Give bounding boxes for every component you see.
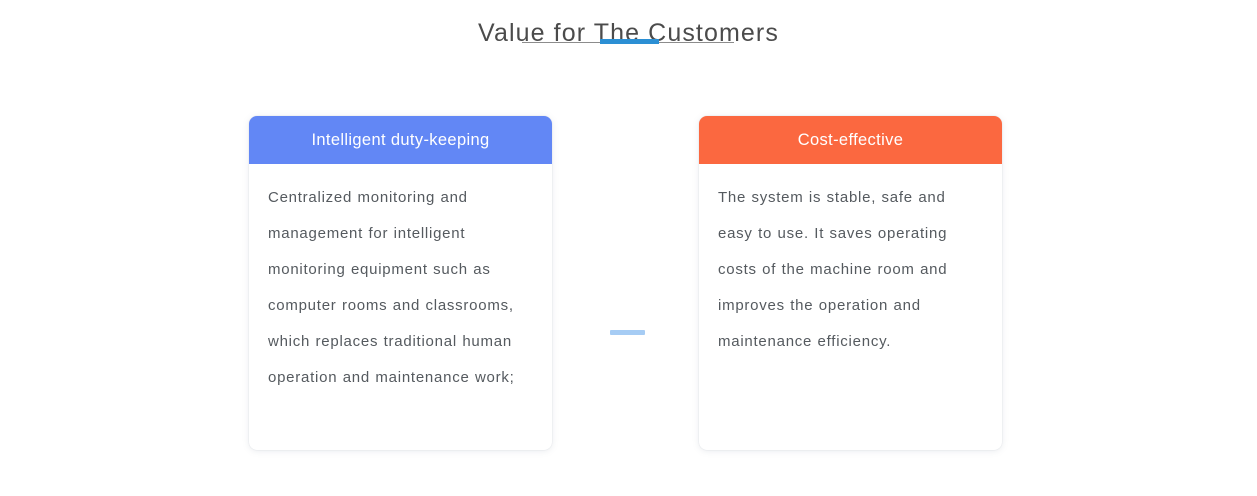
value-card-header: Intelligent duty-keeping: [249, 116, 552, 164]
value-card-body: Centralized monitoring and management fo…: [249, 164, 552, 396]
value-card-header: Cost-effective: [699, 116, 1002, 164]
value-card-cost-effective[interactable]: Cost-effective The system is stable, saf…: [699, 116, 1002, 450]
title-underline-accent: [600, 39, 659, 44]
card-connector-bar: [610, 330, 645, 335]
value-cards-row: Intelligent duty-keeping Centralized mon…: [0, 116, 1257, 456]
value-card-body: The system is stable, safe and easy to u…: [699, 164, 1002, 360]
value-card-description: The system is stable, safe and easy to u…: [718, 180, 984, 360]
value-card-intelligent-duty-keeping[interactable]: Intelligent duty-keeping Centralized mon…: [249, 116, 552, 450]
value-card-description: Centralized monitoring and management fo…: [268, 180, 534, 396]
value-for-customers-section: Value for The Customers Intelligent duty…: [0, 0, 1257, 496]
